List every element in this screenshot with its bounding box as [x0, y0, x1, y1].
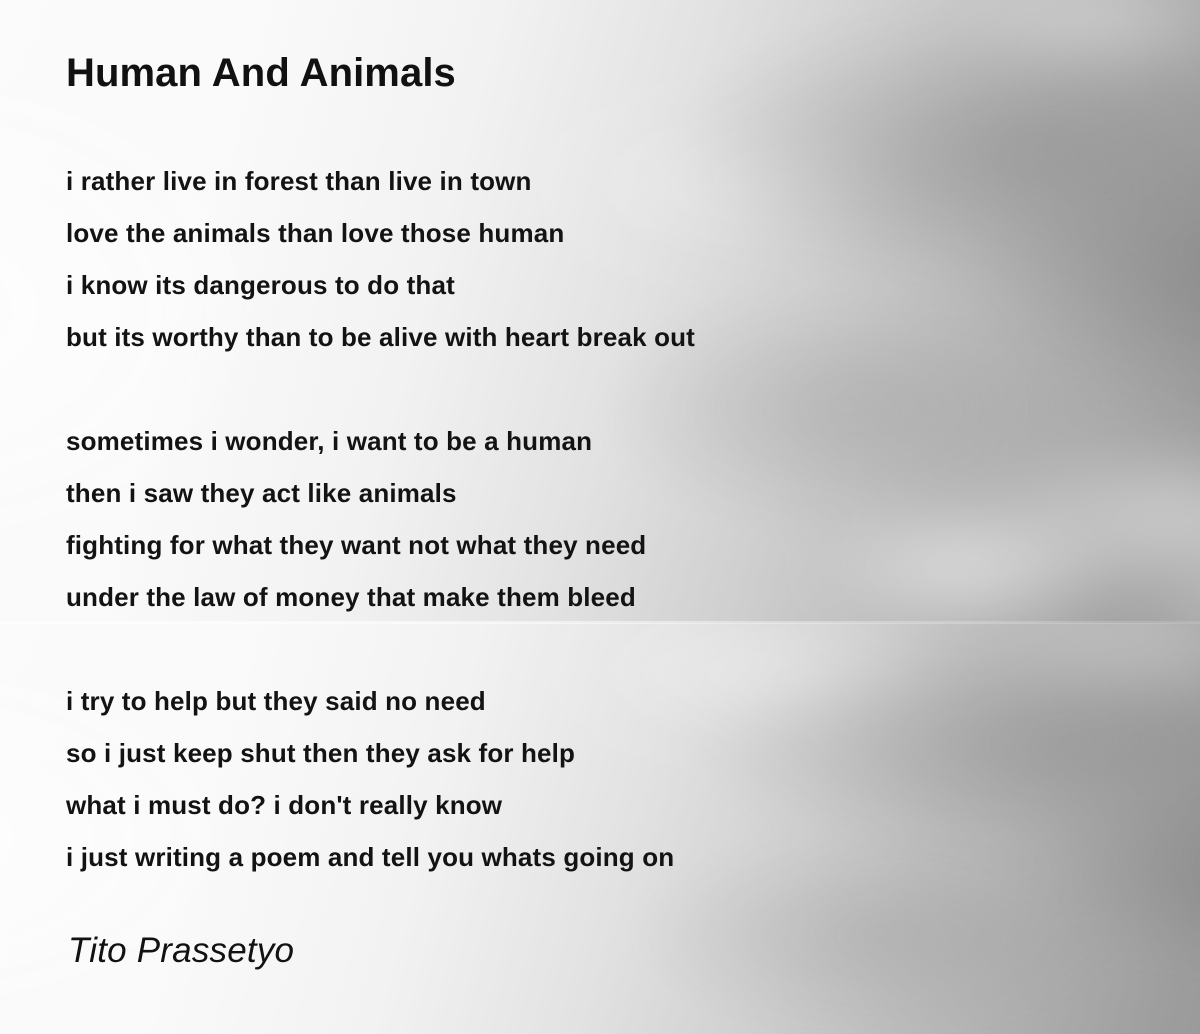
author-signature: Tito Prassetyo [68, 931, 294, 971]
poem-content: Human And Animals i rather live in fores… [0, 0, 1200, 1034]
poem-line: i just writing a poem and tell you whats… [66, 831, 674, 883]
page-title: Human And Animals [66, 51, 456, 96]
poem-line: under the law of money that make them bl… [66, 571, 646, 623]
poem-line: i try to help but they said no need [66, 675, 674, 727]
poem-line: love the animals than love those human [66, 207, 695, 259]
poem-stanza-2: sometimes i wonder, i want to be a human… [66, 415, 646, 623]
poem-line: sometimes i wonder, i want to be a human [66, 415, 646, 467]
poem-line: fighting for what they want not what the… [66, 519, 646, 571]
poem-line: i rather live in forest than live in tow… [66, 155, 695, 207]
poem-line: then i saw they act like animals [66, 467, 646, 519]
poem-line: so i just keep shut then they ask for he… [66, 727, 674, 779]
poem-stanza-3: i try to help but they said no need so i… [66, 675, 674, 883]
poem-line: but its worthy than to be alive with hea… [66, 311, 695, 363]
poem-line: what i must do? i don't really know [66, 779, 674, 831]
poem-image-canvas: Human And Animals i rather live in fores… [0, 0, 1200, 1034]
poem-line: i know its dangerous to do that [66, 259, 695, 311]
poem-stanza-1: i rather live in forest than live in tow… [66, 155, 695, 363]
